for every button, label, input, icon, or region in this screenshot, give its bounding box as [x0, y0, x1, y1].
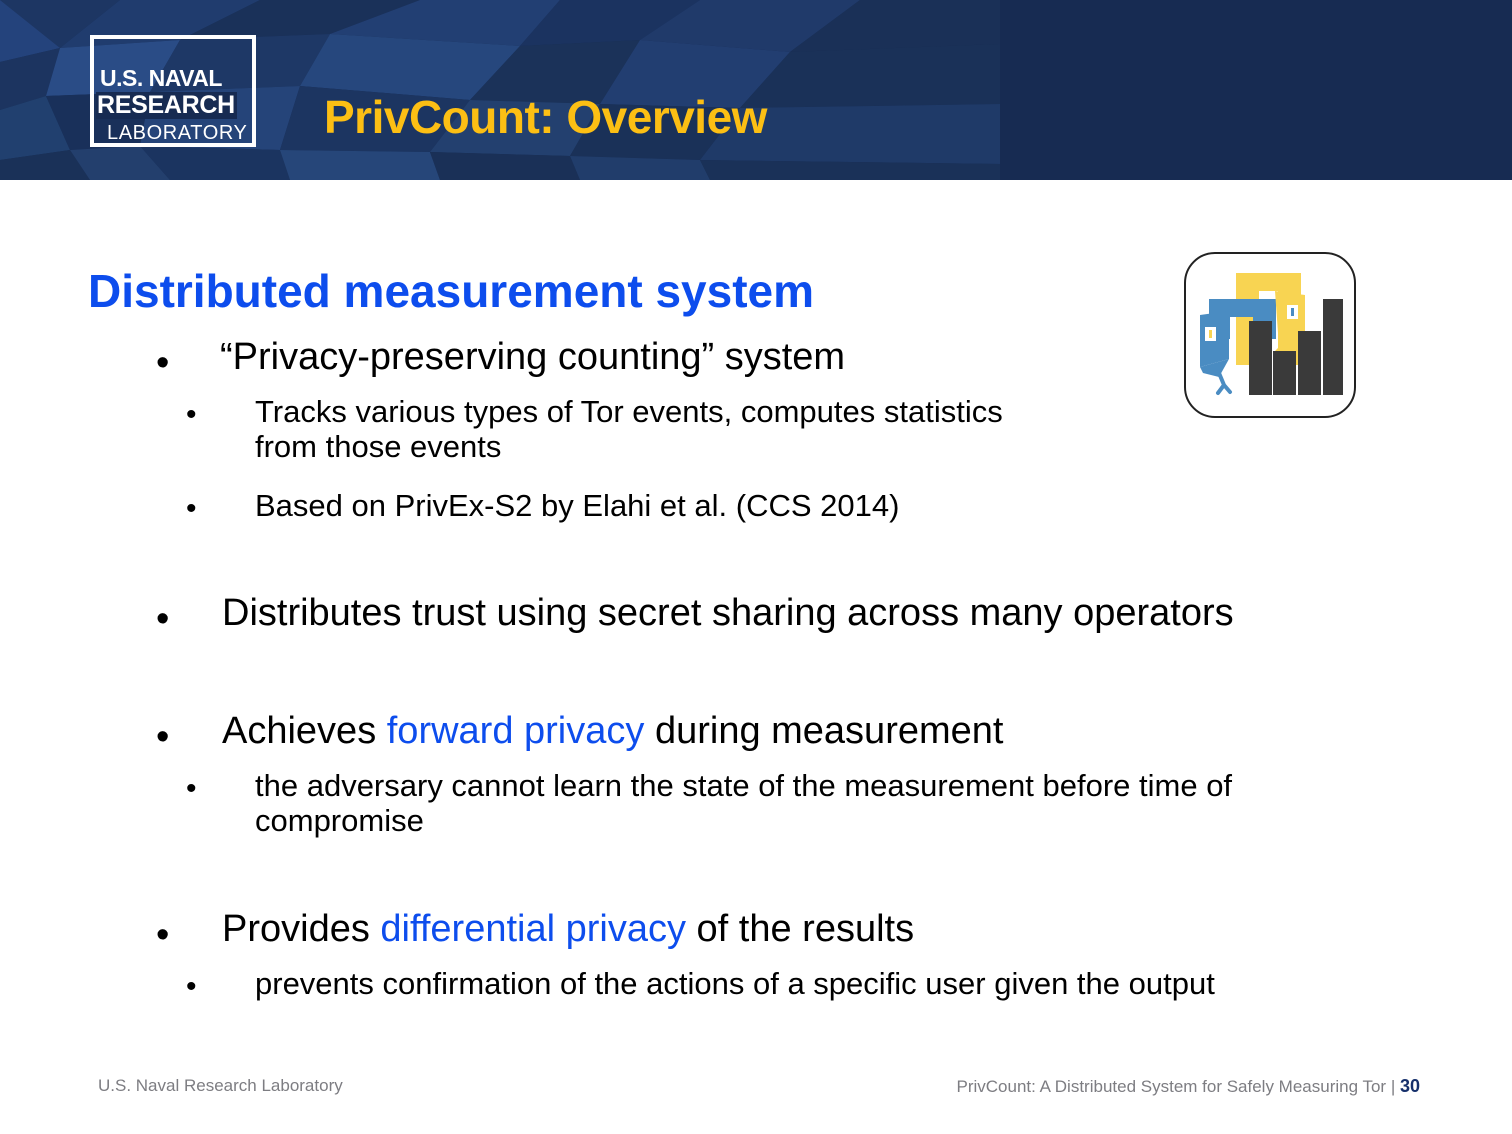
bullet-marker: • [156, 600, 169, 638]
page-title: PrivCount: Overview [324, 94, 767, 140]
bullet-text: prevents confirmation of the actions of … [255, 966, 1445, 1001]
bullet-text-after: of the results [686, 908, 914, 950]
bullet-text: the adversary cannot learn the state of … [255, 768, 1395, 838]
bullet-text-highlight: forward privacy [387, 710, 645, 752]
bullet-text: Achieves forward privacy during measurem… [222, 710, 1452, 753]
bullet-text: Distributes trust using secret sharing a… [222, 592, 1452, 635]
bullet-marker: • [186, 494, 197, 524]
bullet-text-after: during measurement [644, 710, 1003, 752]
section-heading: Distributed measurement system [88, 268, 814, 314]
bullet-text: Tracks various types of Tor events, comp… [255, 394, 1015, 464]
privcount-logo-icon [1183, 251, 1357, 419]
bullet-text-before: Provides [222, 908, 380, 950]
nrl-logo-line-3: LABORATORY [107, 123, 248, 143]
bullet-marker: • [186, 972, 197, 1002]
bullet-marker: • [156, 916, 169, 954]
bullet-text: Provides differential privacy of the res… [222, 908, 1452, 951]
nrl-logo: U.S. NAVAL RESEARCH LABORATORY [90, 35, 256, 165]
footer-deck-title: PrivCount: A Distributed System for Safe… [957, 1076, 1421, 1097]
bullet-marker: • [156, 718, 169, 756]
bullet-marker: • [186, 774, 197, 804]
bullet-marker: • [156, 344, 169, 382]
nrl-logo-line-2: RESEARCH [96, 92, 237, 119]
footer-organization: U.S. Naval Research Laboratory [98, 1076, 343, 1096]
bullet-text-highlight: differential privacy [380, 908, 686, 950]
slide-header: U.S. NAVAL RESEARCH LABORATORY PrivCount… [0, 0, 1512, 180]
footer-page-number: 30 [1400, 1076, 1420, 1096]
slide-footer: U.S. Naval Research Laboratory PrivCount… [0, 1060, 1512, 1134]
bullet-text: Based on PrivEx-S2 by Elahi et al. (CCS … [255, 488, 1155, 523]
bullet-text-before: Achieves [222, 710, 387, 752]
footer-deck-title-text: PrivCount: A Distributed System for Safe… [957, 1077, 1396, 1096]
bullet-marker: • [186, 400, 197, 430]
nrl-logo-line-1: U.S. NAVAL [100, 67, 222, 90]
